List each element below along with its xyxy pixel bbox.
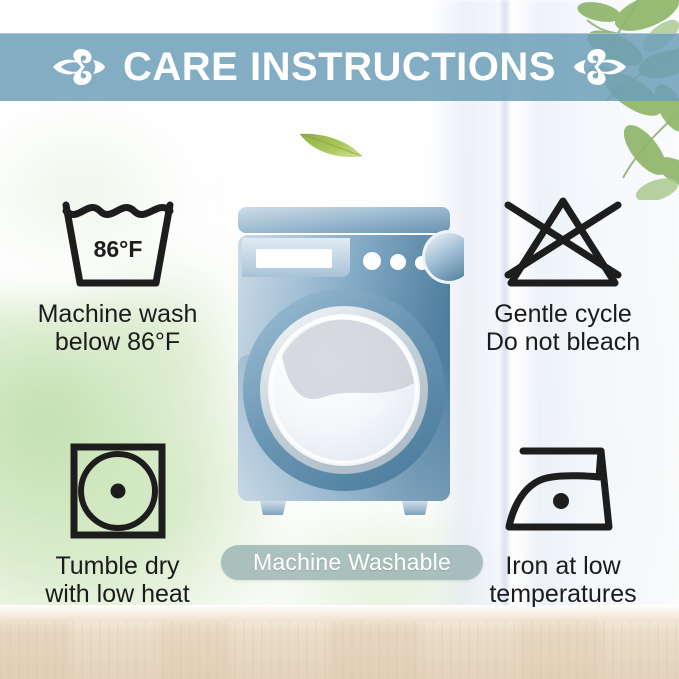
- fleur-de-lis-icon-left: [51, 47, 107, 87]
- care-caption-gentle-cycle-no-bleach: Gentle cycle Do not bleach: [452, 300, 674, 356]
- care-caption-machine-wash: Machine wash below 86°F: [10, 300, 225, 356]
- care-caption-tumble-dry: Tumble dry with low heat: [10, 552, 225, 608]
- header-banner: CARE INSTRUCTIONS: [0, 33, 679, 101]
- wash-temperature-value: 86°F: [93, 236, 142, 262]
- care-symbol-tumble-dry: Tumble dry with low heat: [10, 438, 225, 608]
- iron-icon: [452, 438, 674, 548]
- crossed-triangle-icon: [452, 186, 674, 296]
- care-symbol-gentle-cycle-no-bleach: Gentle cycle Do not bleach: [452, 186, 674, 356]
- fleur-de-lis-icon-right: [572, 47, 628, 87]
- care-caption-iron-low: Iron at low temperatures: [452, 552, 674, 608]
- care-symbol-machine-wash: 86°F Machine wash below 86°F: [10, 186, 225, 356]
- floating-leaf-icon: [296, 124, 366, 164]
- washing-machine-illustration: [224, 205, 464, 535]
- machine-washable-badge: Machine Washable: [221, 545, 483, 580]
- table-wood-grain: [0, 621, 679, 679]
- machine-washable-badge-label: Machine Washable: [253, 551, 451, 574]
- page-title: CARE INSTRUCTIONS: [123, 47, 556, 87]
- wash-tub-icon: 86°F: [10, 186, 225, 296]
- care-symbol-iron-low: Iron at low temperatures: [452, 438, 674, 608]
- tumble-dry-icon: [10, 438, 225, 548]
